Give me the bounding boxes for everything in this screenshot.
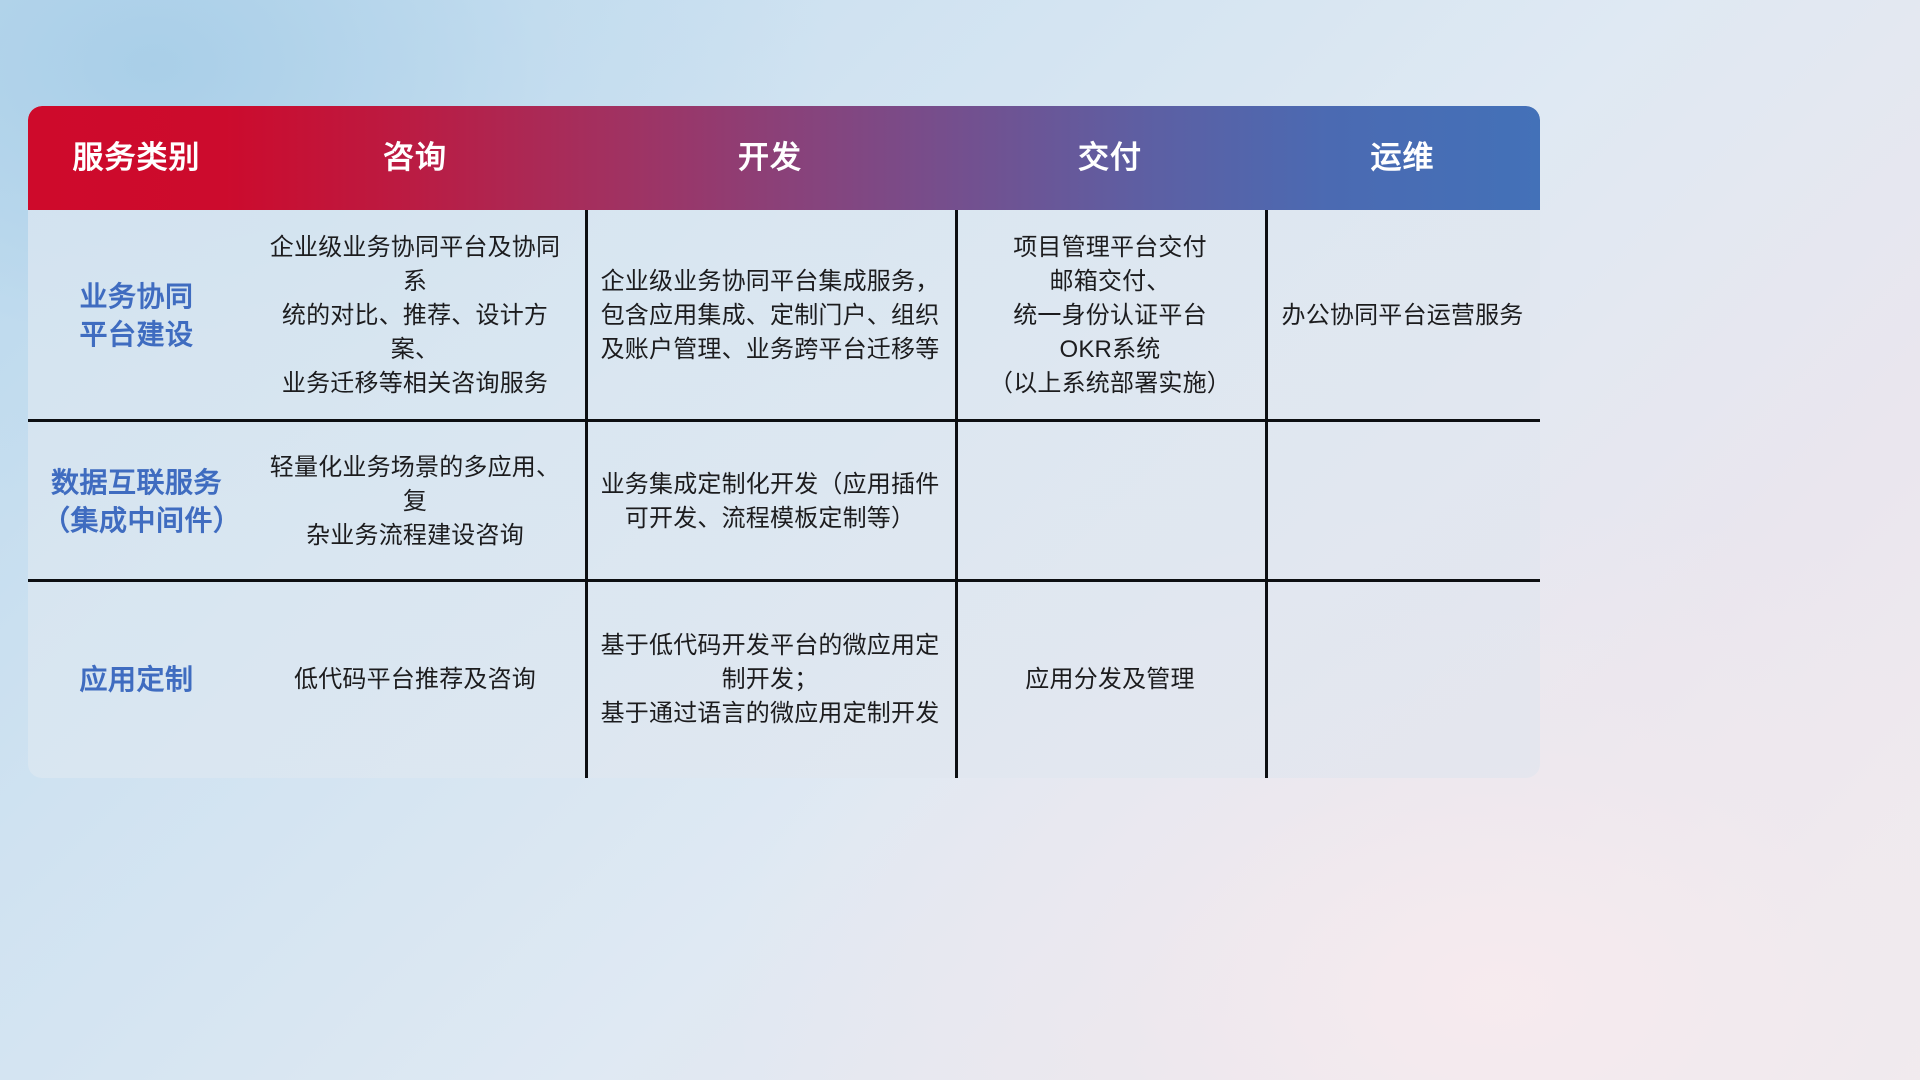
row-2-consulting-text: 轻量化业务场景的多应用、复 杂业务流程建设咨询 — [259, 451, 571, 553]
row-2-development-text: 业务集成定制化开发（应用插件 可开发、流程模板定制等） — [601, 468, 940, 536]
row-3-operations-cell — [1265, 582, 1540, 778]
column-header-development: 开发 — [585, 141, 955, 175]
table-row: 业务协同 平台建设 企业级业务协同平台及协同系 统的对比、推荐、设计方案、 业务… — [28, 210, 1540, 422]
row-1-consulting-text: 企业级业务协同平台及协同系 统的对比、推荐、设计方案、 业务迁移等相关咨询服务 — [259, 231, 571, 401]
row-3-development-text: 基于低代码开发平台的微应用定 制开发； 基于通过语言的微应用定制开发 — [601, 629, 940, 731]
row-3-delivery-cell: 应用分发及管理 — [955, 582, 1265, 778]
row-2-category-cell: 数据互联服务 （集成中间件） — [28, 422, 245, 582]
table-row: 应用定制 低代码平台推荐及咨询 基于低代码开发平台的微应用定 制开发； 基于通过… — [28, 582, 1540, 778]
column-header-delivery: 交付 — [955, 141, 1265, 175]
row-1-delivery-cell: 项目管理平台交付 邮箱交付、 统一身份认证平台 OKR系统 （以上系统部署实施） — [955, 210, 1265, 422]
row-2-category-label: 数据互联服务 （集成中间件） — [42, 464, 231, 540]
row-3-delivery-text: 应用分发及管理 — [1025, 663, 1194, 697]
row-3-consulting-text: 低代码平台推荐及咨询 — [294, 663, 536, 697]
table-body: 业务协同 平台建设 企业级业务协同平台及协同系 统的对比、推荐、设计方案、 业务… — [28, 210, 1540, 778]
row-1-category-cell: 业务协同 平台建设 — [28, 210, 245, 422]
row-3-consulting-cell: 低代码平台推荐及咨询 — [245, 582, 585, 778]
row-1-development-cell: 企业级业务协同平台集成服务， 包含应用集成、定制门户、组织 及账户管理、业务跨平… — [585, 210, 955, 422]
row-3-category-cell: 应用定制 — [28, 582, 245, 778]
row-3-category-label: 应用定制 — [79, 661, 193, 699]
row-3-development-cell: 基于低代码开发平台的微应用定 制开发； 基于通过语言的微应用定制开发 — [585, 582, 955, 778]
table-row: 数据互联服务 （集成中间件） 轻量化业务场景的多应用、复 杂业务流程建设咨询 业… — [28, 422, 1540, 582]
column-header-operations: 运维 — [1265, 141, 1540, 175]
row-1-category-label: 业务协同 平台建设 — [79, 278, 193, 354]
row-2-delivery-cell — [955, 422, 1265, 582]
column-header-category: 服务类别 — [28, 141, 245, 175]
row-2-consulting-cell: 轻量化业务场景的多应用、复 杂业务流程建设咨询 — [245, 422, 585, 582]
row-1-consulting-cell: 企业级业务协同平台及协同系 统的对比、推荐、设计方案、 业务迁移等相关咨询服务 — [245, 210, 585, 422]
slide-canvas: 服务类别 咨询 开发 交付 运维 业务协同 平台建设 企业级业务协同平台及协同系… — [0, 0, 1920, 1080]
row-1-delivery-text: 项目管理平台交付 邮箱交付、 统一身份认证平台 OKR系统 （以上系统部署实施） — [989, 231, 1231, 401]
row-1-development-text: 企业级业务协同平台集成服务， 包含应用集成、定制门户、组织 及账户管理、业务跨平… — [601, 265, 940, 367]
table-header-row: 服务类别 咨询 开发 交付 运维 — [28, 106, 1540, 210]
row-2-development-cell: 业务集成定制化开发（应用插件 可开发、流程模板定制等） — [585, 422, 955, 582]
row-1-operations-text: 办公协同平台运营服务 — [1282, 299, 1524, 333]
row-1-operations-cell: 办公协同平台运营服务 — [1265, 210, 1540, 422]
service-matrix-table: 服务类别 咨询 开发 交付 运维 业务协同 平台建设 企业级业务协同平台及协同系… — [28, 106, 1540, 778]
row-2-operations-cell — [1265, 422, 1540, 582]
column-header-consulting: 咨询 — [245, 141, 585, 175]
